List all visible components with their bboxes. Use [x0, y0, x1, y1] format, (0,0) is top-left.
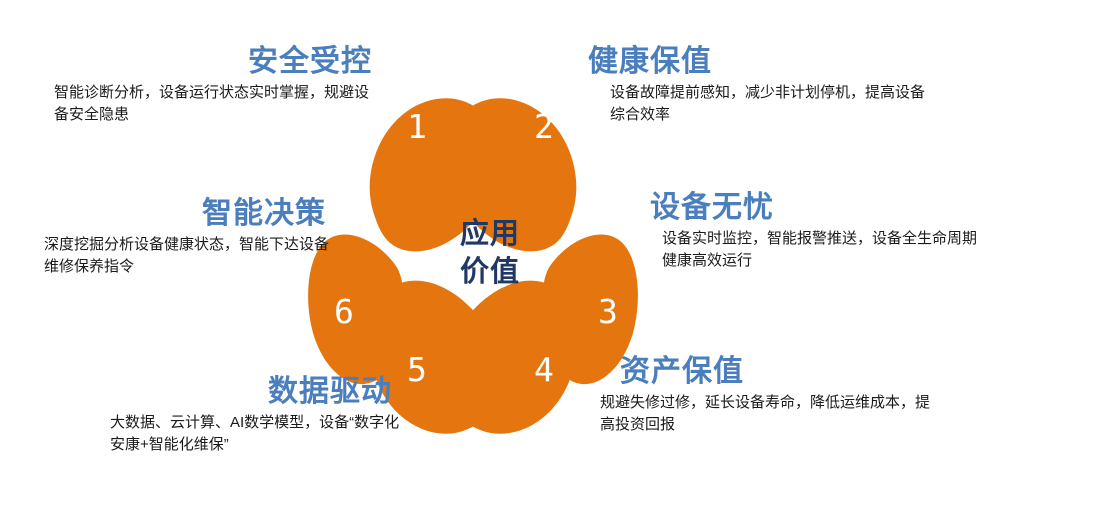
item-3-block: 设备无忧 设备实时监控，智能报警推送，设备全生命周期健康高效运行 [648, 192, 978, 273]
item-4-body: 规避失修过修，延长设备寿命，降低运维成本，提高投资回报 [600, 392, 930, 437]
item-5-heading: 数据驱动 [110, 376, 392, 408]
item-5-block: 数据驱动 大数据、云计算、AI数学模型，设备“数字化安康+智能化维保” [110, 376, 400, 457]
item-2-body: 设备故障提前感知，减少非计划停机，提高设备综合效率 [610, 82, 928, 127]
infographic-canvas: 1 2 3 4 5 6 应用 价值 安全受控 智能诊断分析，设备运行状态实时掌握… [0, 0, 1103, 532]
item-4-block: 资产保值 规避失修过修，延长设备寿命，降低运维成本，提高投资回报 [600, 356, 930, 437]
item-2-block: 健康保值 设备故障提前感知，减少非计划停机，提高设备综合效率 [588, 46, 928, 127]
item-1-heading: 安全受控 [54, 46, 372, 78]
item-5-body: 大数据、云计算、AI数学模型，设备“数字化安康+智能化维保” [110, 412, 400, 457]
center-title-line2: 价值 [430, 254, 550, 292]
item-6-heading: 智能决策 [44, 198, 326, 230]
item-3-heading: 设备无忧 [650, 192, 978, 224]
item-3-body: 设备实时监控，智能报警推送，设备全生命周期健康高效运行 [662, 228, 978, 273]
petal-2-number: 2 [534, 110, 554, 143]
item-1-block: 安全受控 智能诊断分析，设备运行状态实时掌握，规避设备安全隐患 [54, 46, 374, 127]
petal-1-number: 1 [407, 110, 427, 143]
item-4-heading: 资产保值 [620, 356, 930, 388]
petal-6-number: 6 [334, 295, 354, 328]
item-6-block: 智能决策 深度挖掘分析设备健康状态，智能下达设备维修保养指令 [44, 198, 334, 279]
petal-3-number: 3 [598, 295, 618, 328]
item-2-heading: 健康保值 [588, 46, 928, 78]
center-title-line1: 应用 [430, 216, 550, 254]
item-6-body: 深度挖掘分析设备健康状态，智能下达设备维修保养指令 [44, 234, 334, 279]
petal-5-number: 5 [407, 353, 427, 386]
center-title: 应用 价值 [430, 216, 550, 291]
petal-4-number: 4 [534, 353, 554, 386]
item-1-body: 智能诊断分析，设备运行状态实时掌握，规避设备安全隐患 [54, 82, 374, 127]
